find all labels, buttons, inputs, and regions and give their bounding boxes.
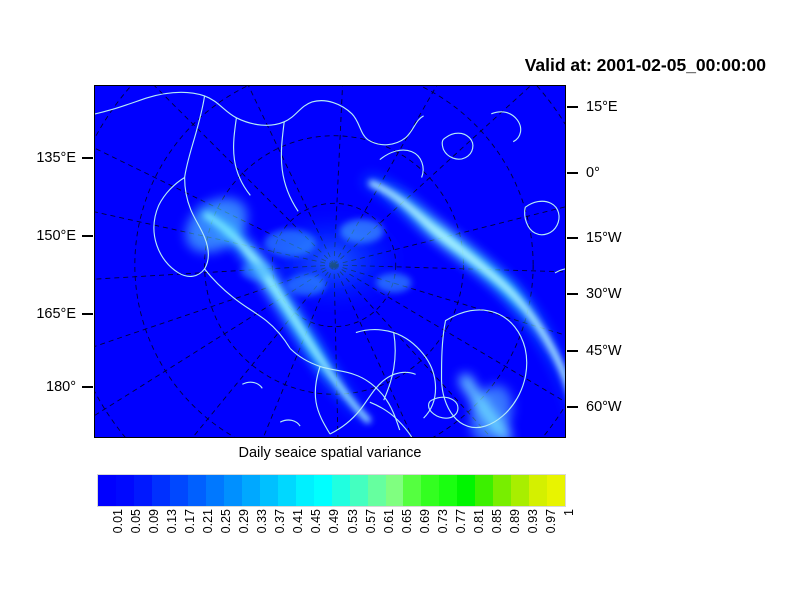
axis-label-right-1: 0° <box>586 166 600 181</box>
colorbar-swatch <box>332 475 350 506</box>
colorbar-swatch <box>350 475 368 506</box>
axis-label-left-2: 165°E <box>0 307 76 322</box>
colorbar-tick-label: 0.49 <box>327 509 341 533</box>
axis-label-right-5: 60°W <box>586 400 622 415</box>
colorbar-tick-label: 0.09 <box>147 509 161 533</box>
colorbar-tick-label: 0.73 <box>436 509 450 533</box>
colorbar-tick-label: 0.25 <box>219 509 233 533</box>
colorbar-swatch <box>134 475 152 506</box>
colorbar-swatch <box>206 475 224 506</box>
colorbar-tick-label: 0.85 <box>490 509 504 533</box>
axis-label-right-2: 15°W <box>586 231 622 246</box>
colorbar-swatch <box>260 475 278 506</box>
figure-title: Valid at: 2001-02-05_00:00:00 <box>525 55 766 76</box>
axis-label-left-1: 150°E <box>0 229 76 244</box>
colorbar-tick-label: 0.93 <box>526 509 540 533</box>
tick-left-1 <box>82 235 93 237</box>
axis-label-right-0: 15°E <box>586 100 618 115</box>
colorbar-swatch <box>547 475 565 506</box>
tick-left-0 <box>82 157 93 159</box>
colorbar-tick-label: 0.65 <box>400 509 414 533</box>
colorbar-swatch <box>439 475 457 506</box>
colorbar-swatch <box>188 475 206 506</box>
figure-canvas: Valid at: 2001-02-05_00:00:00 <box>0 0 792 612</box>
colorbar-tick-label: 0.61 <box>382 509 396 533</box>
colorbar-swatch <box>296 475 314 506</box>
tick-right-1 <box>567 172 578 174</box>
map-plot-area <box>94 85 566 438</box>
colorbar-tick-label: 0.53 <box>346 509 360 533</box>
colorbar-tick-label: 0.69 <box>418 509 432 533</box>
colorbar-tick-label: 0.57 <box>364 509 378 533</box>
colorbar-swatch <box>403 475 421 506</box>
colorbar-swatch <box>529 475 547 506</box>
colorbar-swatch <box>152 475 170 506</box>
colorbar-tick-label: 0.97 <box>544 509 558 533</box>
colorbar-swatch <box>224 475 242 506</box>
colorbar-swatch <box>278 475 296 506</box>
colorbar-tick-label: 0.89 <box>508 509 522 533</box>
colorbar-tick-label: 0.37 <box>273 509 287 533</box>
colorbar-swatch <box>475 475 493 506</box>
colorbar-swatch <box>242 475 260 506</box>
colorbar-swatch <box>421 475 439 506</box>
colorbar-tick-label: 0.77 <box>454 509 468 533</box>
colorbar-swatch <box>457 475 475 506</box>
colorbar-swatch <box>511 475 529 506</box>
tick-right-5 <box>567 406 578 408</box>
tick-left-2 <box>82 313 93 315</box>
colorbar-tick-label: 0.05 <box>129 509 143 533</box>
axis-label-left-0: 135°E <box>0 151 76 166</box>
tick-right-4 <box>567 350 578 352</box>
axis-label-left-3: 180° <box>0 380 76 395</box>
colorbar-tick-label: 1 <box>562 509 576 516</box>
colorbar-swatch <box>116 475 134 506</box>
colorbar-tick-label: 0.81 <box>472 509 486 533</box>
colorbar-swatch <box>386 475 404 506</box>
axis-label-right-3: 30°W <box>586 287 622 302</box>
axis-label-right-4: 45°W <box>586 344 622 359</box>
colorbar-tick-label: 0.01 <box>111 509 125 533</box>
map-graphic <box>95 86 565 437</box>
colorbar-swatch <box>368 475 386 506</box>
colorbar-tick-labels: 0.010.050.090.130.170.210.250.290.330.37… <box>97 509 566 569</box>
colorbar-tick-label: 0.21 <box>201 509 215 533</box>
colorbar-swatch <box>170 475 188 506</box>
colorbar-swatch <box>493 475 511 506</box>
colorbar-tick-label: 0.17 <box>183 509 197 533</box>
tick-right-0 <box>567 106 578 108</box>
tick-right-2 <box>567 237 578 239</box>
plot-caption: Daily seaice spatial variance <box>94 445 566 461</box>
colorbar <box>97 474 566 507</box>
colorbar-tick-label: 0.45 <box>309 509 323 533</box>
tick-left-3 <box>82 386 93 388</box>
colorbar-tick-label: 0.29 <box>237 509 251 533</box>
colorbar-swatch <box>314 475 332 506</box>
tick-right-3 <box>567 293 578 295</box>
colorbar-tick-label: 0.33 <box>255 509 269 533</box>
colorbar-swatch <box>98 475 116 506</box>
colorbar-tick-label: 0.41 <box>291 509 305 533</box>
colorbar-tick-label: 0.13 <box>165 509 179 533</box>
